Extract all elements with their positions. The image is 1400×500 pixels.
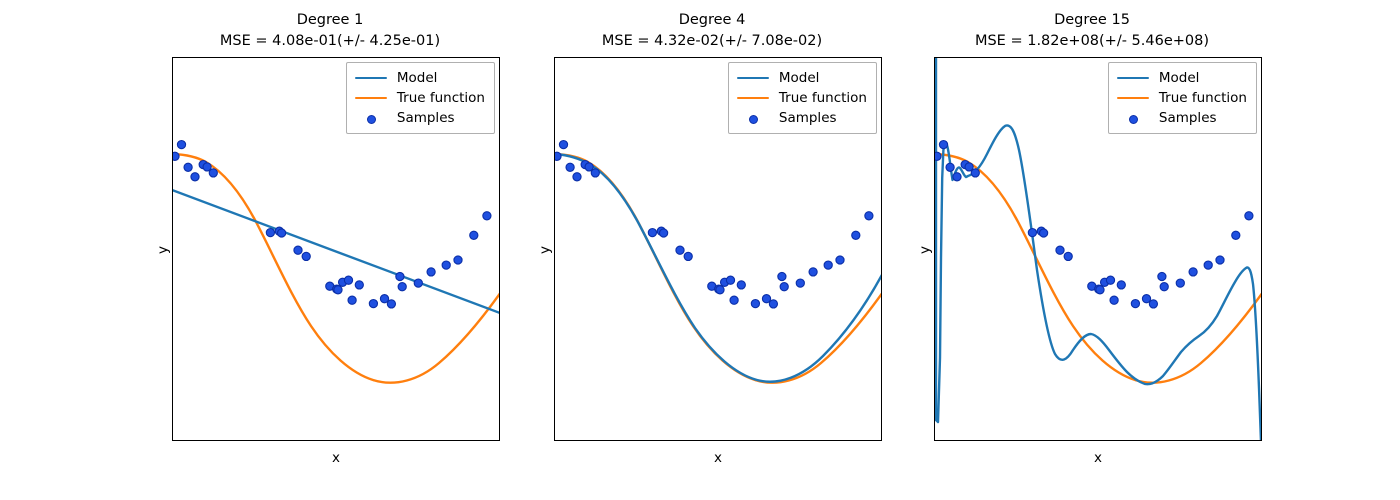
model-line-icon [736, 68, 770, 88]
axes-degree-1: Model True function Samples [172, 57, 500, 441]
legend-row-model: Model [736, 68, 867, 88]
true-function-line-icon [354, 88, 388, 108]
panel-title-line2: MSE = 1.82e+08(+/- 5.46e+08) [975, 33, 1209, 49]
panel-title-degree-15: Degree 15MSE = 1.82e+08(+/- 5.46e+08) [912, 10, 1272, 52]
y-axis-label-degree-15: y [917, 230, 933, 270]
panel-title-line1: Degree 15 [1054, 12, 1130, 28]
legend-label-samples: Samples [397, 110, 455, 126]
legend-row-samples: Samples [354, 108, 485, 128]
x-axis-label-degree-15: x [934, 450, 1262, 466]
legend-degree-1: Model True function Samples [346, 62, 495, 134]
model-line-icon [1116, 68, 1150, 88]
legend-row-model: Model [354, 68, 485, 88]
true-function-curve [173, 154, 500, 383]
true-function-curve [935, 154, 1262, 383]
legend-row-model: Model [1116, 68, 1247, 88]
legend-row-true-function: True function [354, 88, 485, 108]
legend-row-samples: Samples [1116, 108, 1247, 128]
x-axis-label-degree-1: x [172, 450, 500, 466]
legend-label-model: Model [1159, 70, 1200, 86]
axes-degree-4: Model True function Samples [554, 57, 882, 441]
panel-title-line1: Degree 1 [297, 12, 364, 28]
legend-label-samples: Samples [1159, 110, 1217, 126]
panel-degree-1: Degree 1MSE = 4.08e-01(+/- 4.25e-01) [150, 0, 510, 500]
true-function-line-icon [1116, 88, 1150, 108]
samples-dot-icon [354, 108, 388, 128]
y-axis-label-degree-1: y [155, 230, 171, 270]
model-curve [173, 190, 500, 313]
model-curve [555, 154, 882, 382]
panel-title-line1: Degree 4 [679, 12, 746, 28]
panel-title-line2: MSE = 4.08e-01(+/- 4.25e-01) [220, 33, 440, 49]
legend-label-true-function: True function [779, 90, 867, 106]
sample-points [935, 141, 1253, 309]
sample-points [173, 141, 491, 309]
legend-row-samples: Samples [736, 108, 867, 128]
legend-label-true-function: True function [397, 90, 485, 106]
panel-title-degree-1: Degree 1MSE = 4.08e-01(+/- 4.25e-01) [150, 10, 510, 52]
x-axis-label-degree-4: x [554, 450, 882, 466]
y-axis-label-degree-4: y [537, 230, 553, 270]
samples-dot-icon [736, 108, 770, 128]
axes-degree-15: Model True function Samples [934, 57, 1262, 441]
legend-row-true-function: True function [736, 88, 867, 108]
panel-title-degree-4: Degree 4MSE = 4.32e-02(+/- 7.08e-02) [532, 10, 892, 52]
legend-label-samples: Samples [779, 110, 837, 126]
figure-canvas: Degree 1MSE = 4.08e-01(+/- 4.25e-01) [0, 0, 1400, 500]
legend-label-model: Model [397, 70, 438, 86]
panel-degree-4: Degree 4MSE = 4.32e-02(+/- 7.08e-02) [532, 0, 892, 500]
panel-degree-15: Degree 15MSE = 1.82e+08(+/- 5.46e+08) [912, 0, 1272, 500]
legend-degree-4: Model True function Samples [728, 62, 877, 134]
true-function-line-icon [736, 88, 770, 108]
true-function-curve [555, 154, 882, 383]
legend-row-true-function: True function [1116, 88, 1247, 108]
legend-degree-15: Model True function Samples [1108, 62, 1257, 134]
legend-label-model: Model [779, 70, 820, 86]
samples-dot-icon [1116, 108, 1150, 128]
sample-points [555, 141, 873, 309]
panel-title-line2: MSE = 4.32e-02(+/- 7.08e-02) [602, 33, 822, 49]
model-line-icon [354, 68, 388, 88]
legend-label-true-function: True function [1159, 90, 1247, 106]
